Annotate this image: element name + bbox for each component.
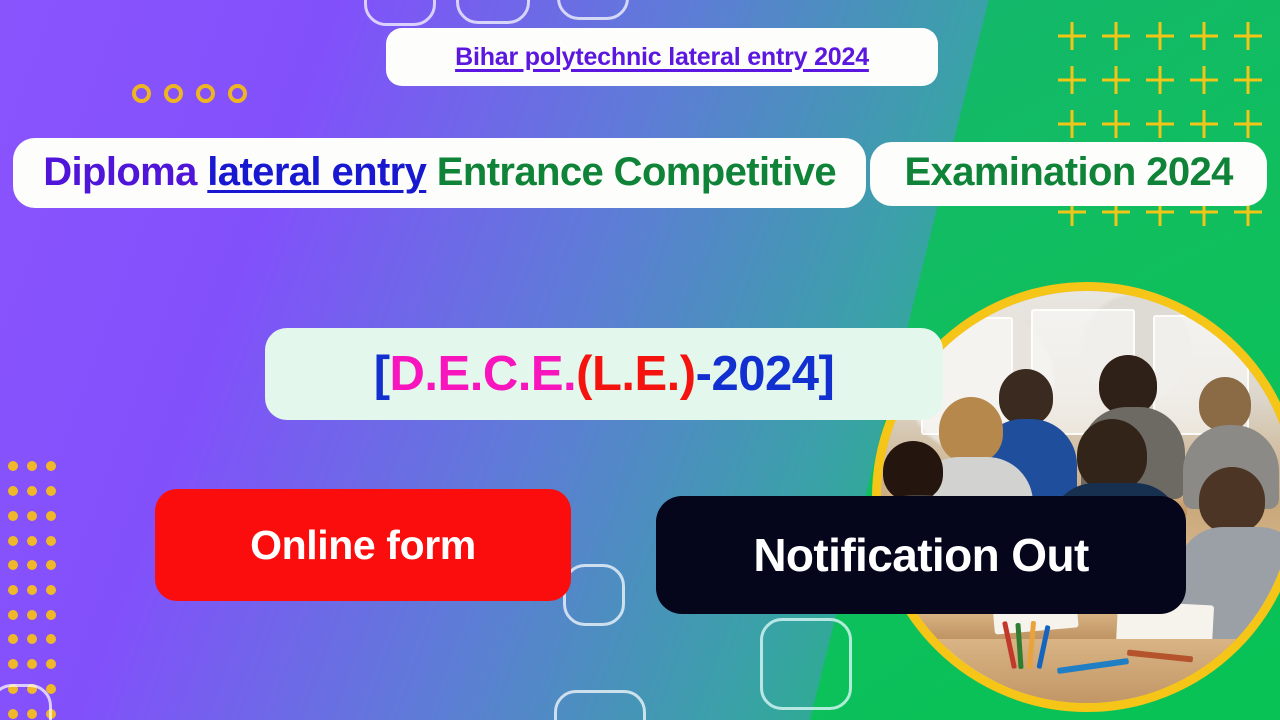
exam-code-badge: [ D.E.C.E. (L.E.)-2024 ]: [265, 328, 943, 420]
headline-block: Diploma lateral entry Entrance Competiti…: [0, 138, 1280, 208]
headline-word-diploma: Diploma: [43, 150, 207, 194]
badge-level: (L.E.): [576, 346, 695, 402]
top-banner-pill: Bihar polytechnic lateral entry 2024: [386, 28, 938, 86]
headline-word-examination-year: Examination 2024: [904, 150, 1232, 194]
notification-out-button[interactable]: Notification Out: [656, 496, 1186, 614]
badge-bracket-open: [: [374, 346, 390, 402]
headline-word-lateral-entry: lateral entry: [207, 150, 426, 194]
badge-bracket-close: ]: [818, 346, 834, 402]
online-form-button-label: Online form: [250, 522, 476, 569]
top-banner-label: Bihar polytechnic lateral entry 2024: [455, 43, 869, 72]
headline-line-2: Examination 2024: [870, 142, 1266, 206]
badge-year: -2024: [696, 346, 819, 402]
badge-abbreviation: D.E.C.E.: [390, 346, 577, 402]
notification-out-button-label: Notification Out: [753, 528, 1088, 582]
online-form-button[interactable]: Online form: [155, 489, 571, 601]
headline-line-1: Diploma lateral entry Entrance Competiti…: [13, 138, 866, 208]
headline-word-entrance-competitive: Entrance Competitive: [426, 150, 836, 194]
content-layer: Bihar polytechnic lateral entry 2024 Dip…: [0, 0, 1280, 720]
